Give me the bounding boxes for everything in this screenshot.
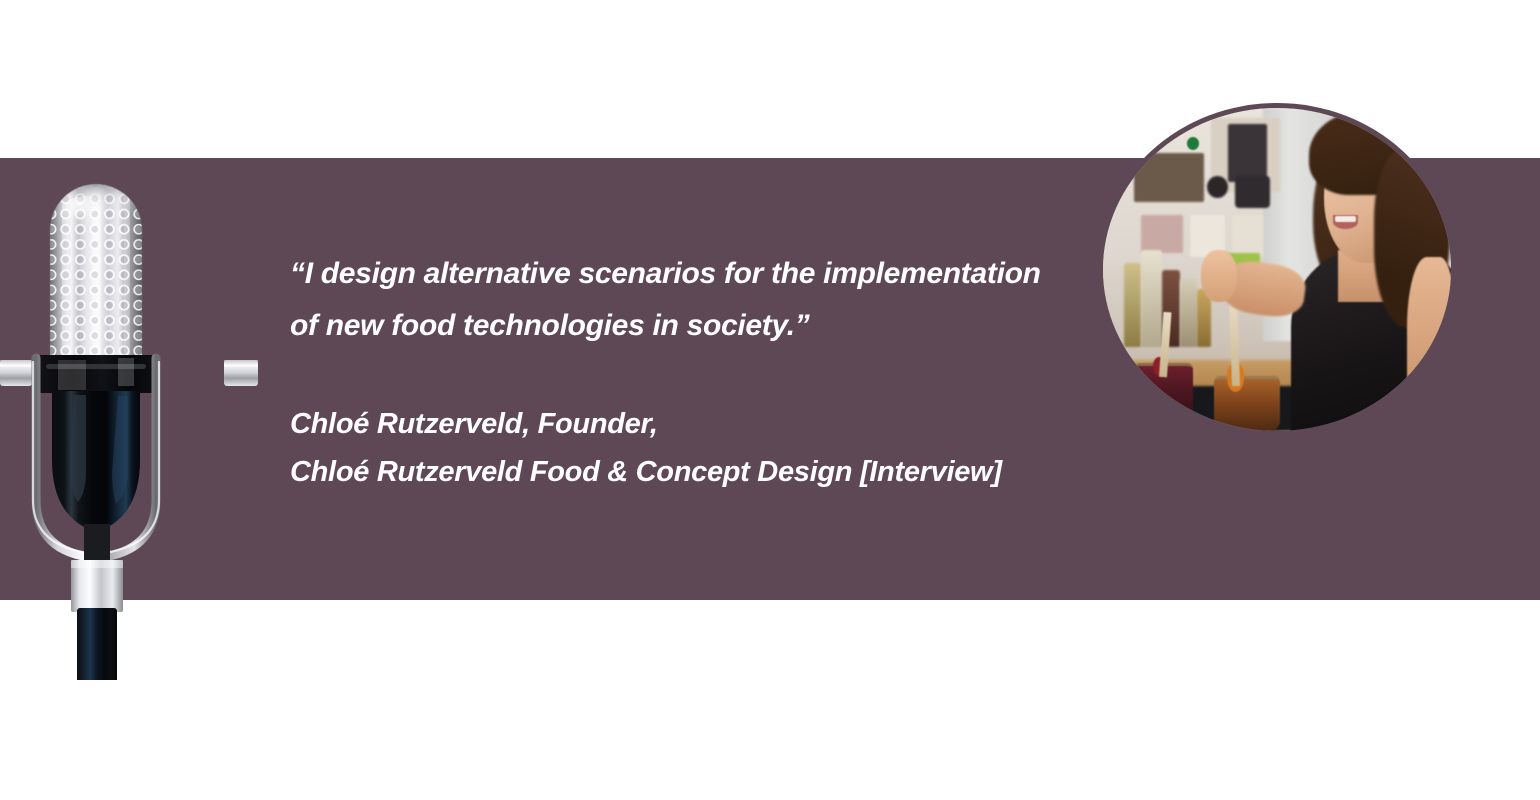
quote-line-1: “I design alternative scenarios for the … <box>290 248 1090 300</box>
attribution-line-2: Chloé Rutzerveld Food & Concept Design [… <box>290 448 1090 496</box>
wall-frame-dark <box>1235 176 1270 208</box>
portrait-scene <box>1103 108 1451 431</box>
person-figure <box>1284 108 1451 431</box>
mic-base-group <box>71 524 123 680</box>
bottle-2 <box>1141 250 1162 347</box>
wall-photo-small-1 <box>1141 215 1183 254</box>
portrait-photo <box>1103 108 1451 431</box>
wall-poster <box>1134 153 1204 201</box>
portrait-oval-frame <box>1098 103 1456 436</box>
bottle-1 <box>1124 263 1141 347</box>
attribution-line-1: Chloé Rutzerveld, Founder, <box>290 400 1090 448</box>
bottle-4 <box>1180 279 1197 347</box>
jar-amber-preserve <box>1214 376 1280 431</box>
mic-pivot-knob-right <box>224 360 258 386</box>
mic-pivot-knob-left <box>0 360 32 386</box>
mic-head-group <box>46 184 146 364</box>
banner-canvas: “I design alternative scenarios for the … <box>0 0 1540 800</box>
teeth <box>1335 216 1357 222</box>
quote-line-2: of new food technologies in society.” <box>290 300 1090 352</box>
wall-photo-small-3 <box>1232 215 1263 257</box>
hand <box>1201 250 1237 302</box>
attribution-text: Chloé Rutzerveld, Founder, Chloé Rutzerv… <box>290 400 1090 496</box>
microphone-illustration <box>0 100 290 680</box>
upper-arm <box>1407 257 1451 425</box>
wall-photo-portrait <box>1228 124 1266 182</box>
mic-collar-group <box>40 355 152 393</box>
quote-text: “I design alternative scenarios for the … <box>290 248 1090 352</box>
wall-magnet-green <box>1187 137 1199 150</box>
mic-body-group <box>52 391 140 532</box>
